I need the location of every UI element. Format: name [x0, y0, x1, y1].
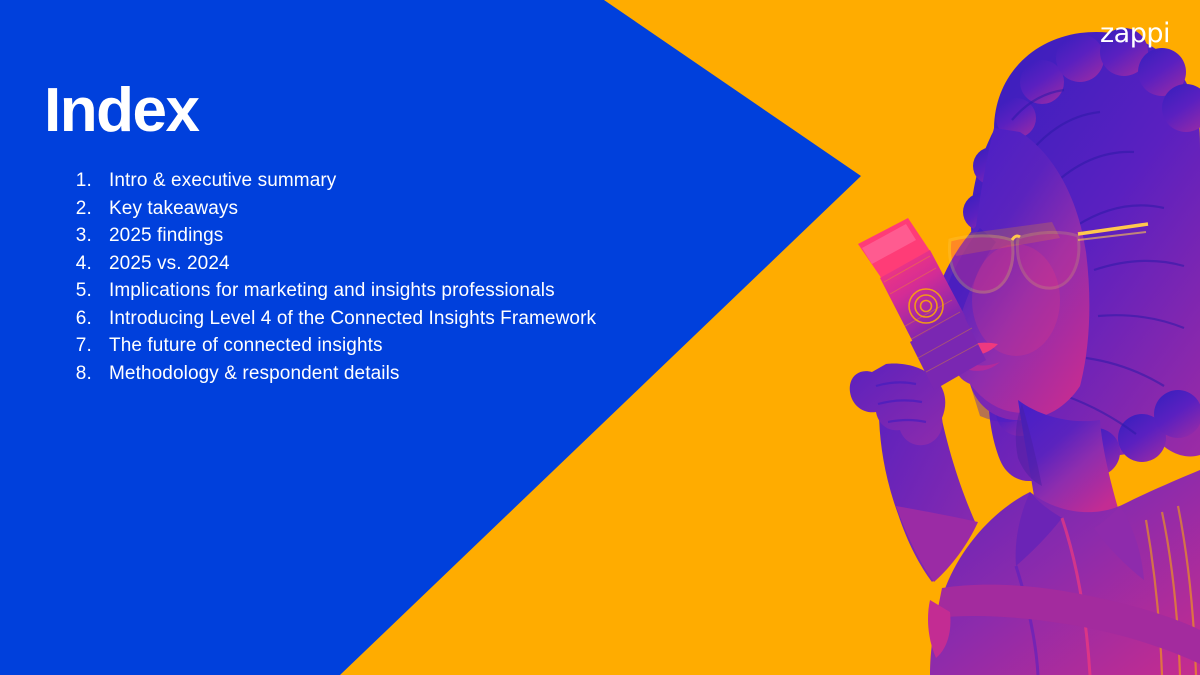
index-item-number: 5.	[44, 280, 92, 302]
index-item[interactable]: 2.Key takeaways	[44, 198, 596, 226]
index-item-label: Key takeaways	[109, 198, 238, 220]
zappi-logo: zappi	[1100, 20, 1170, 47]
index-item-number: 4.	[44, 253, 92, 275]
index-item[interactable]: 1.Intro & executive summary	[44, 170, 596, 198]
index-item[interactable]: 6.Introducing Level 4 of the Connected I…	[44, 308, 596, 336]
index-item-number: 1.	[44, 170, 92, 192]
index-item[interactable]: 8.Methodology & respondent details	[44, 363, 596, 391]
index-item-label: Implications for marketing and insights …	[109, 280, 555, 302]
index-item-label: 2025 vs. 2024	[109, 253, 230, 275]
index-item[interactable]: 4.2025 vs. 2024	[44, 253, 596, 281]
index-item-number: 2.	[44, 198, 92, 220]
index-item-label: The future of connected insights	[109, 335, 383, 357]
index-item-label: Introducing Level 4 of the Connected Ins…	[109, 308, 596, 330]
index-item-number: 3.	[44, 225, 92, 247]
index-item-number: 6.	[44, 308, 92, 330]
page-title: Index	[44, 78, 198, 143]
index-list: 1.Intro & executive summary2.Key takeawa…	[44, 170, 596, 390]
index-item-number: 7.	[44, 335, 92, 357]
index-item[interactable]: 5.Implications for marketing and insight…	[44, 280, 596, 308]
index-item-label: Intro & executive summary	[109, 170, 336, 192]
index-item[interactable]: 7.The future of connected insights	[44, 335, 596, 363]
index-item[interactable]: 3.2025 findings	[44, 225, 596, 253]
duotone-portrait-photo	[780, 0, 1200, 675]
slide-canvas: zappi Index 1.Intro & executive summary2…	[0, 0, 1200, 675]
index-item-label: Methodology & respondent details	[109, 363, 400, 385]
index-item-number: 8.	[44, 363, 92, 385]
index-item-label: 2025 findings	[109, 225, 223, 247]
